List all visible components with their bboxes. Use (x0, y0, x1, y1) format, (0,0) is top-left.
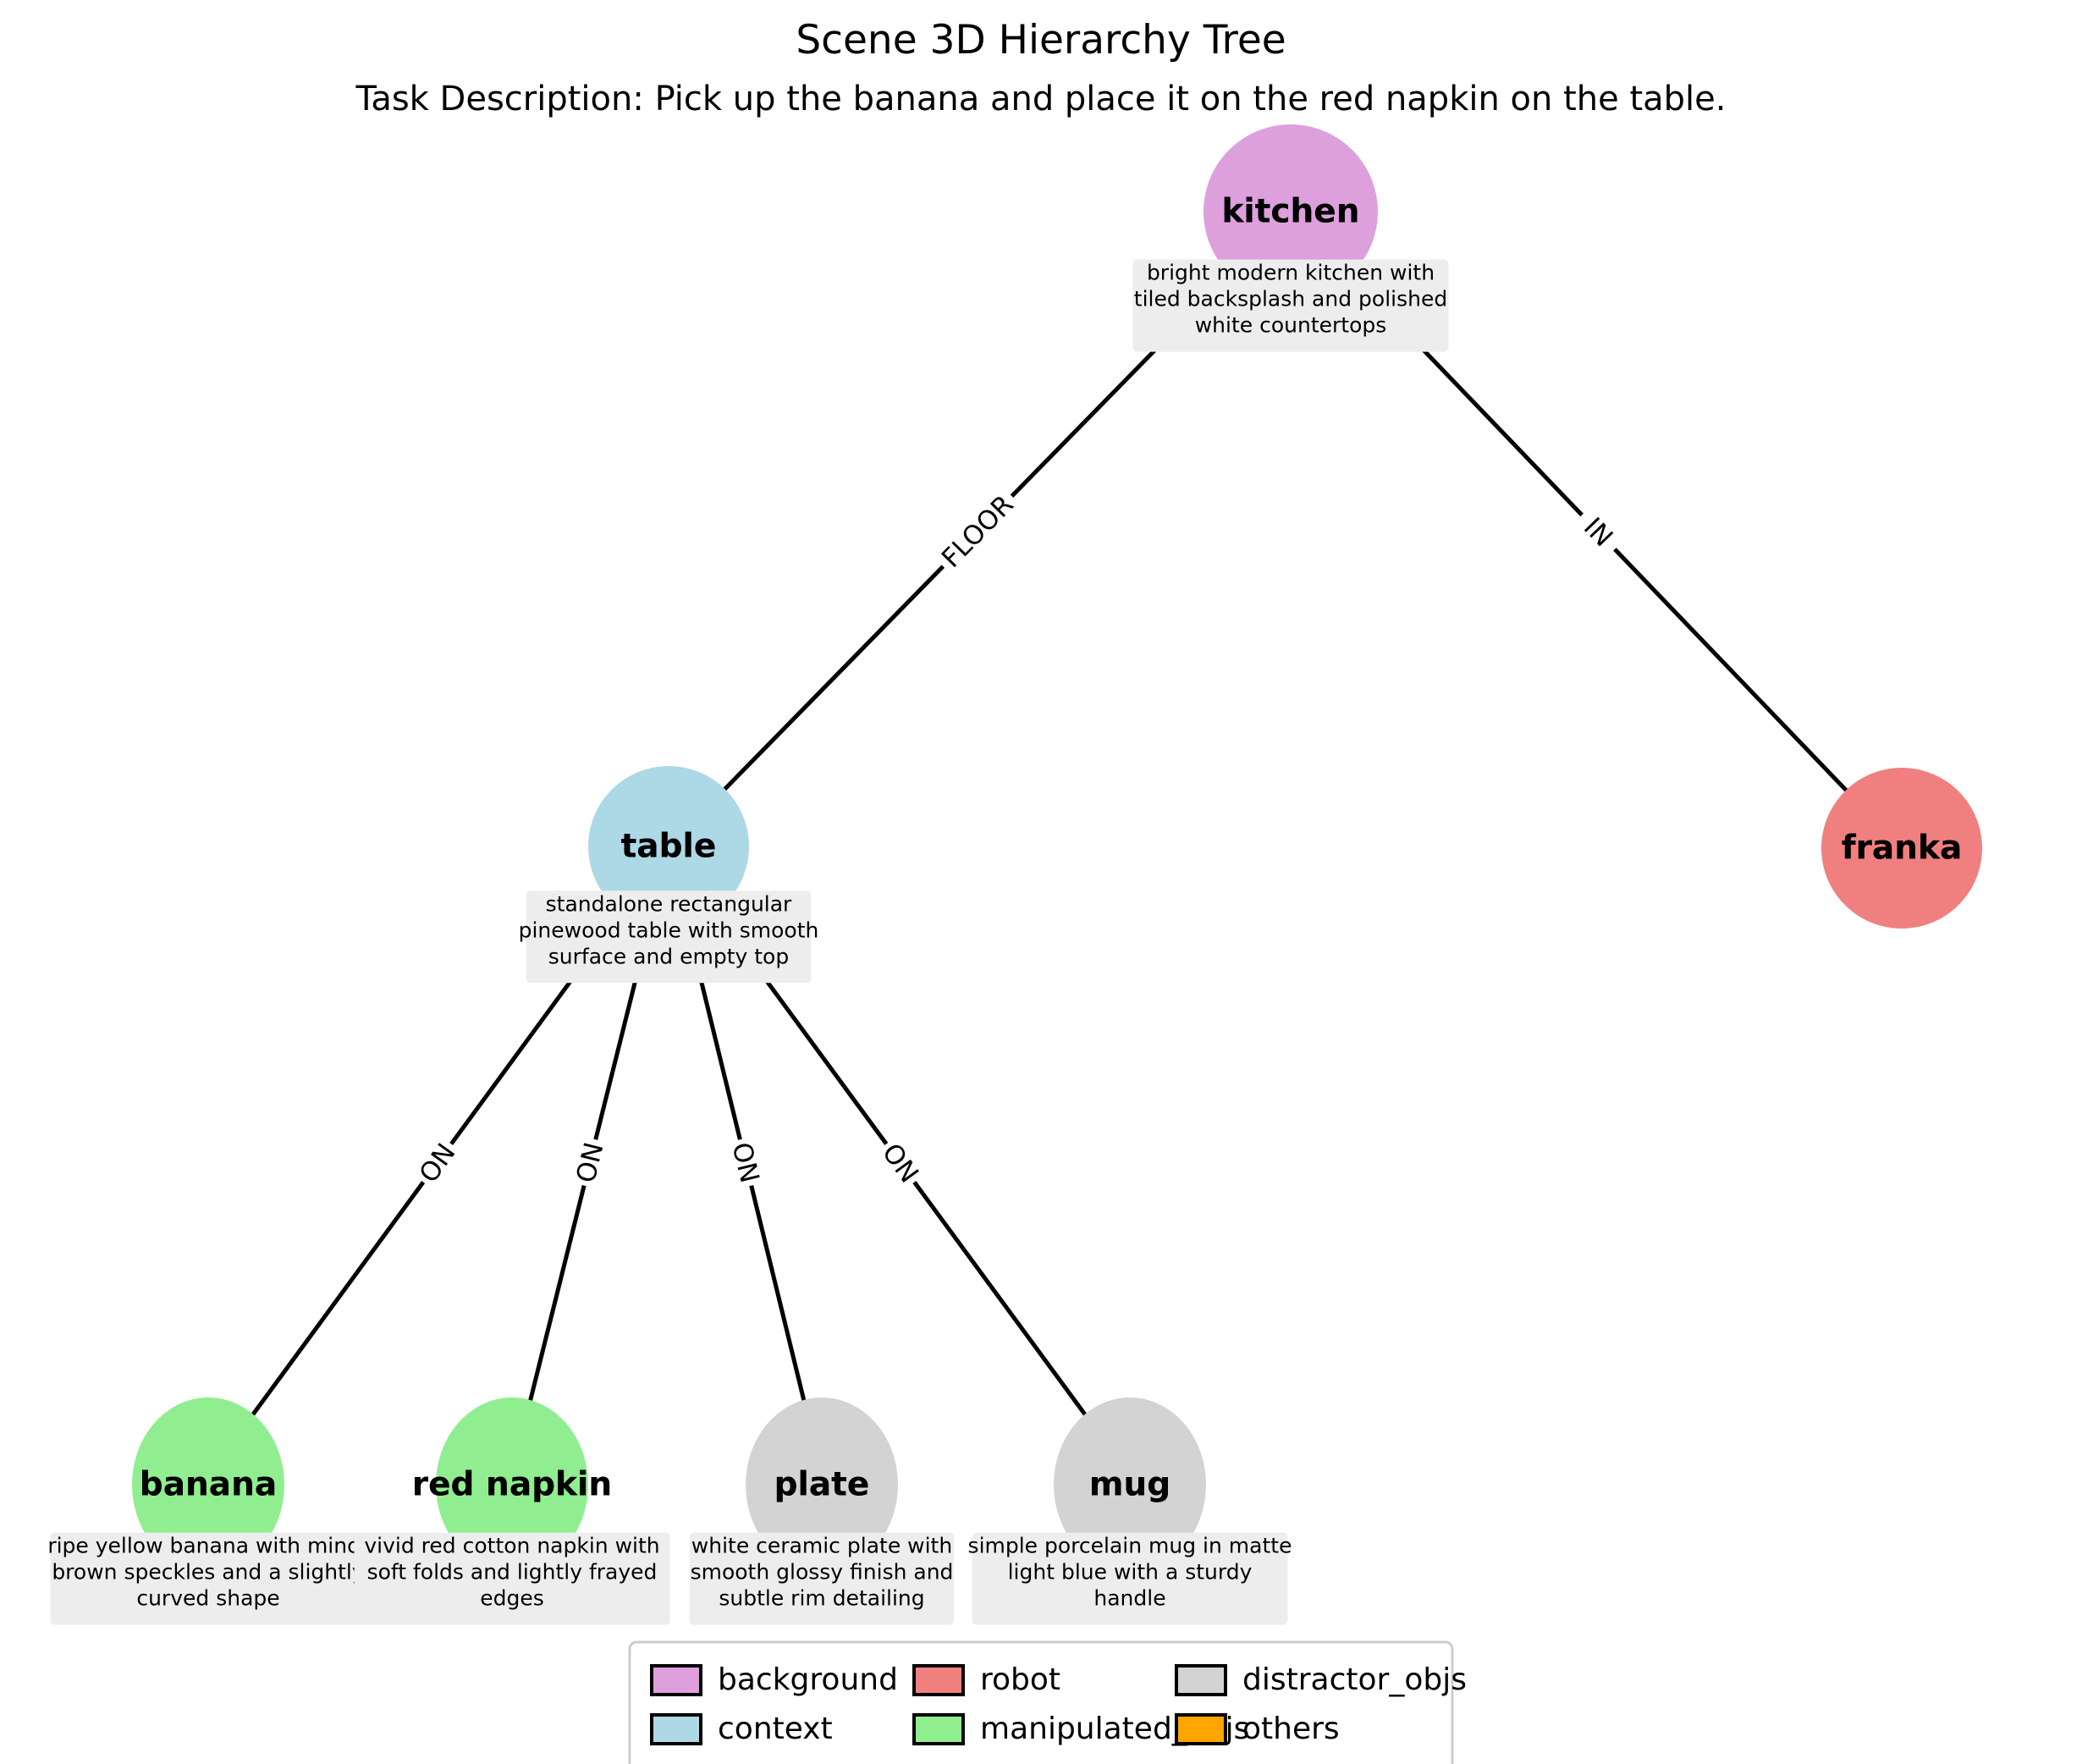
node-label-top-red_napkin: red napkin (412, 1466, 612, 1504)
description-line: edges (480, 1586, 544, 1611)
legend-item-robot[interactable]: robot (914, 1662, 1060, 1697)
node-label-top-mug: mug (1089, 1466, 1170, 1504)
description-line: curved shape (136, 1586, 279, 1611)
description-line: handle (1093, 1586, 1165, 1611)
node-description-mug: simple porcelain mug in mattelight blue … (968, 1533, 1292, 1625)
legend-label-others: others (1242, 1712, 1340, 1746)
node-label-top-banana: banana (140, 1466, 277, 1504)
description-line: simple porcelain mug in matte (968, 1534, 1292, 1558)
description-line: smooth glossy finish and (691, 1560, 954, 1585)
node-description-banana: ripe yellow banana with minorbrown speck… (47, 1533, 369, 1625)
node-description-plate: white ceramic plate withsmooth glossy fi… (690, 1533, 954, 1625)
description-line: subtle rim detailing (719, 1586, 924, 1611)
legend-item-context[interactable]: context (652, 1712, 833, 1746)
description-line: bright modern kitchen with (1147, 261, 1435, 285)
legend-swatch-context (652, 1715, 701, 1744)
legend: backgroundrobotdistractor_objscontextman… (630, 1642, 1467, 1764)
figure-background (0, 0, 2082, 1764)
node-label-top-plate: plate (774, 1466, 870, 1504)
legend-swatch-distractor_objs (1176, 1666, 1226, 1695)
description-line: ripe yellow banana with minor (47, 1534, 369, 1558)
description-line: brown speckles and a slightly (52, 1560, 365, 1585)
description-line: light blue with a sturdy (1008, 1560, 1253, 1585)
description-line: vivid red cotton napkin with (364, 1534, 659, 1558)
description-line: soft folds and lightly frayed (367, 1560, 658, 1585)
node-description-red_napkin: vivid red cotton napkin withsoft folds a… (355, 1533, 670, 1625)
legend-label-context: context (718, 1712, 833, 1746)
task-description: Task Description: Pick up the banana and… (355, 80, 1727, 119)
legend-item-others[interactable]: others (1176, 1712, 1340, 1746)
description-line: surface and empty top (548, 944, 789, 968)
legend-swatch-background (652, 1666, 701, 1695)
description-line: standalone rectangular (546, 891, 792, 916)
node-description-kitchen: bright modern kitchen withtiled backspla… (1133, 260, 1449, 352)
node-label-top-kitchen: kitchen (1221, 193, 1359, 231)
legend-label-robot: robot (980, 1662, 1060, 1697)
description-line: tiled backsplash and polished (1134, 287, 1447, 311)
description-line: white countertops (1195, 313, 1387, 338)
scene-hierarchy-figure: Scene 3D Hierarchy Tree Task Description… (0, 0, 2082, 1764)
page-title: Scene 3D Hierarchy Tree (796, 17, 1286, 63)
node-description-table: standalone rectangularpinewood table wit… (519, 890, 819, 983)
legend-label-distractor_objs: distractor_objs (1242, 1662, 1467, 1697)
legend-swatch-others (1176, 1715, 1226, 1744)
node-label-top-franka: franka (1842, 830, 1963, 868)
description-line: white ceramic plate with (691, 1534, 952, 1558)
legend-item-distractor_objs[interactable]: distractor_objs (1176, 1662, 1467, 1697)
legend-swatch-robot (914, 1666, 963, 1695)
description-line: pinewood table with smooth (519, 918, 819, 942)
legend-swatch-manipulated_objs (914, 1715, 963, 1744)
legend-item-background[interactable]: background (652, 1662, 898, 1697)
node-label-top-table: table (621, 828, 717, 866)
legend-label-background: background (718, 1662, 898, 1697)
